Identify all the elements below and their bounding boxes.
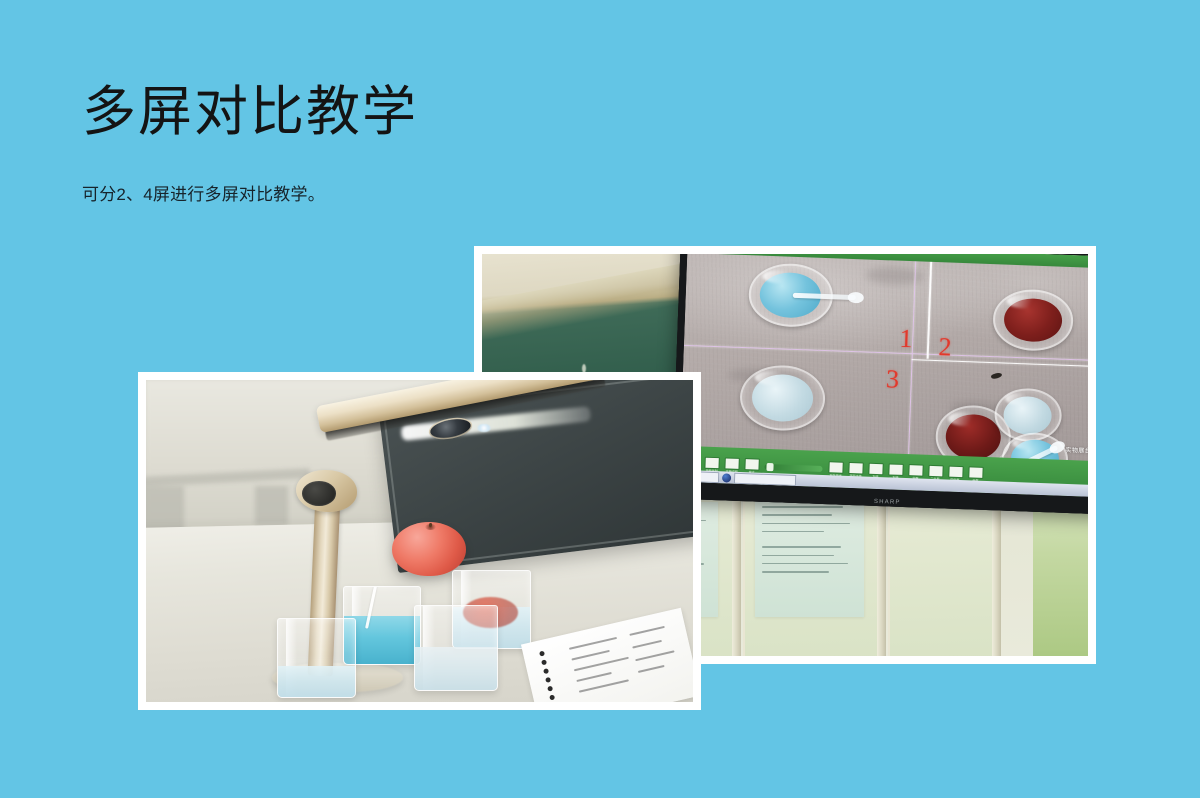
video-icon (704, 457, 719, 470)
zoom-icon (744, 458, 759, 471)
window-mullion (732, 487, 741, 656)
document-camera-desk-photo (138, 372, 701, 710)
grid-icon (908, 464, 923, 477)
photo-inner-left (146, 380, 693, 702)
document-icon (724, 457, 739, 470)
background-leg (255, 486, 288, 525)
apple (392, 522, 466, 577)
rotate-left-icon (868, 463, 883, 476)
start-orb-icon[interactable] (722, 473, 731, 482)
beaker-front-center (414, 605, 498, 691)
freeze-icon (848, 462, 863, 475)
display-brand-label: SHARP (874, 499, 901, 506)
marker-2: 2 (938, 332, 952, 362)
brightness-slider[interactable] (764, 464, 822, 472)
desk-scene (146, 380, 693, 702)
page-subtitle: 可分2、4屏进行多屏对比教学。 (82, 182, 325, 208)
window-panel (888, 487, 995, 656)
split2-icon (928, 465, 943, 478)
slide-canvas: 多屏对比教学 可分2、4屏进行多屏对比教学。 (0, 0, 1200, 798)
display-bezel: 1 2 3 (671, 254, 1088, 516)
rotate-right-icon (888, 463, 903, 476)
marker-3: 3 (885, 364, 899, 394)
visualizer-joint-cap (302, 481, 336, 505)
page-title: 多屏对比教学 (82, 82, 418, 142)
marker-1: 1 (899, 323, 913, 353)
compare-icon (828, 461, 843, 474)
split4-icon (948, 466, 963, 479)
interactive-flat-panel: 1 2 3 (671, 254, 1088, 516)
fullscreen-icon (968, 466, 983, 479)
mode-label: 实物展台 (1065, 445, 1088, 455)
display-screen[interactable]: 1 2 3 (679, 254, 1088, 498)
taskbar-window-item[interactable] (734, 472, 796, 485)
window-mullion (877, 487, 886, 656)
wall-poster (755, 499, 864, 617)
window-mullion (992, 487, 1001, 656)
beaker-front-left (277, 618, 356, 697)
